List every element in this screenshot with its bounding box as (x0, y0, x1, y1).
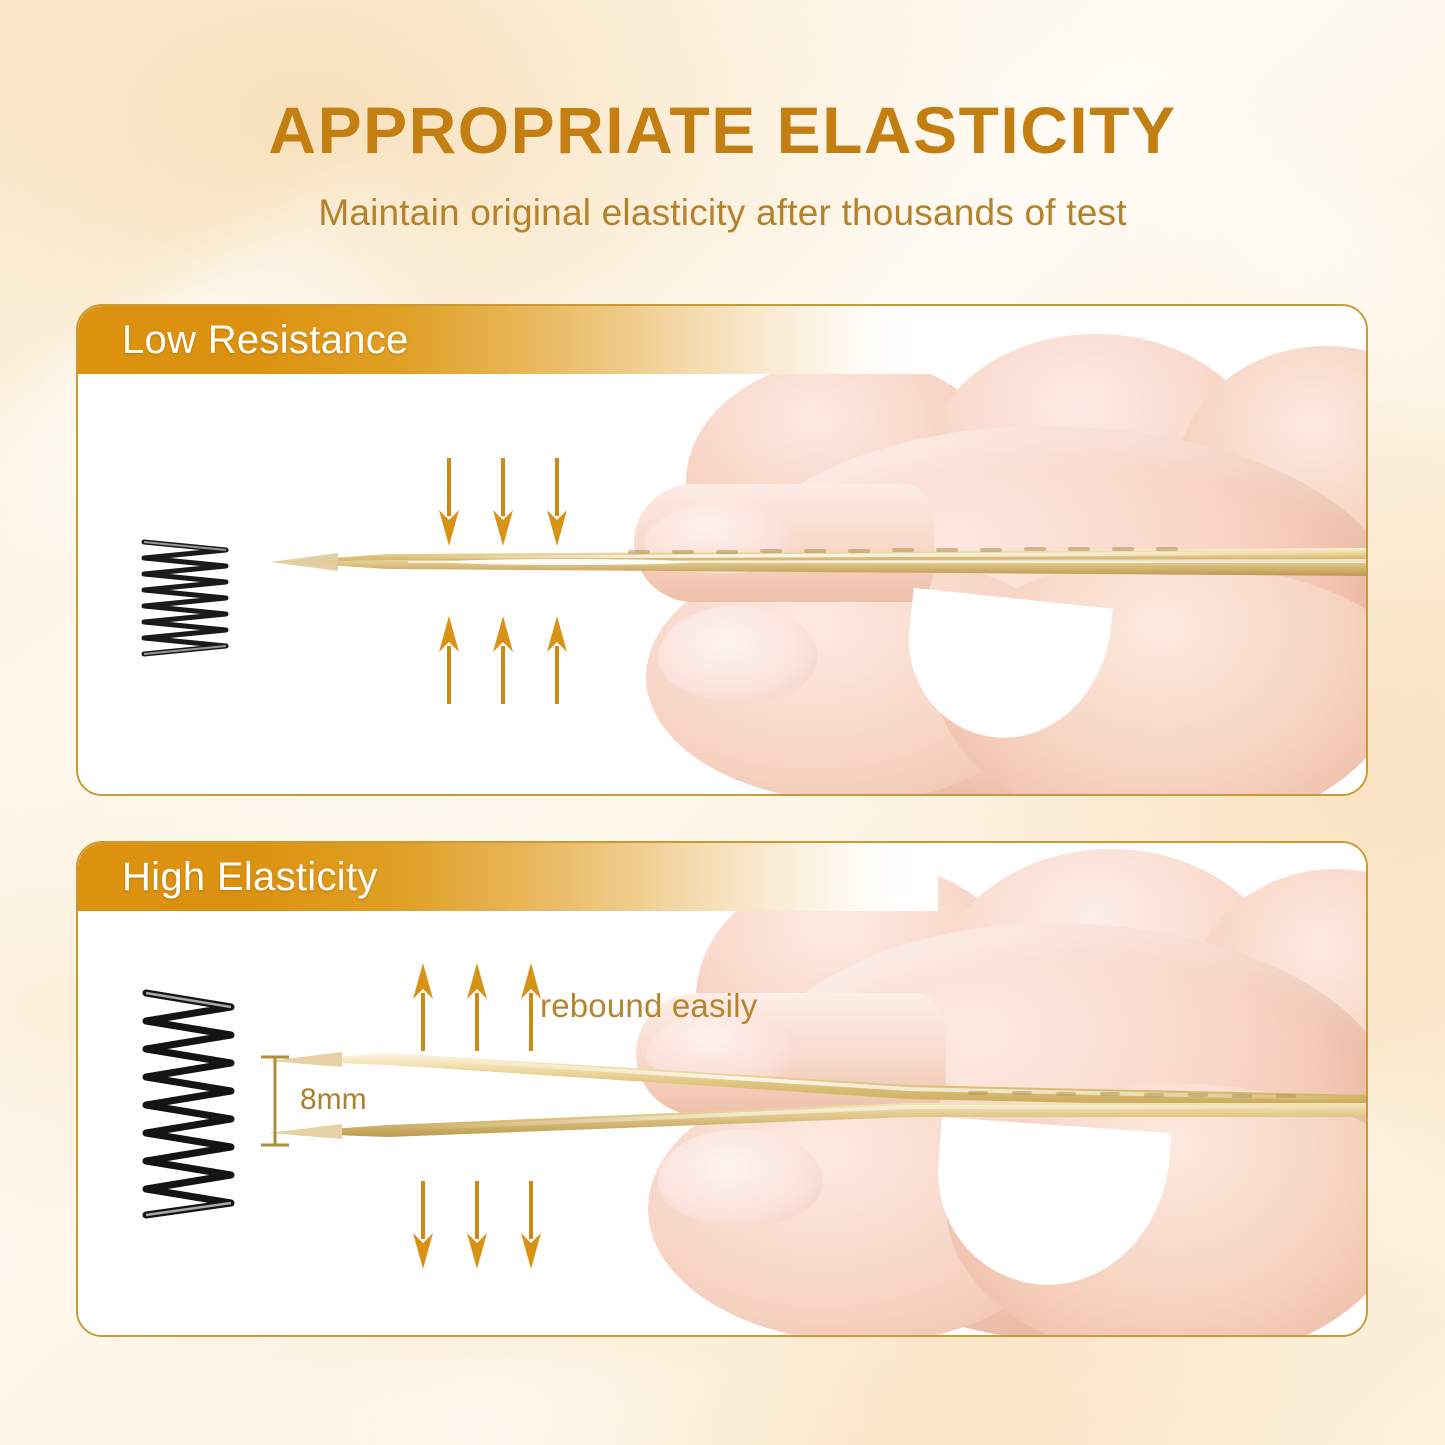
badge-low-resistance-label: Low Resistance (122, 318, 409, 363)
page-subtitle: Maintain original elasticity after thous… (0, 192, 1445, 234)
fingernail (658, 606, 818, 702)
panel-low-resistance-body: Low Resistance (78, 306, 1366, 794)
arrow-down-icon (544, 458, 570, 546)
tweezers-open (268, 1033, 1366, 1163)
dimension-marker-icon (258, 1051, 292, 1151)
arrow-up-icon (436, 616, 462, 704)
arrow-down-icon (518, 1181, 544, 1269)
arrow-down-icon (436, 458, 462, 546)
panel-low-resistance: Low Resistance (76, 304, 1368, 796)
badge-high-elasticity-label: High Elasticity (122, 855, 378, 900)
spring-coil-icon-compressed (126, 534, 246, 664)
panel-high-elasticity: 8mm rebound easily (76, 841, 1368, 1337)
arrow-up-icon (544, 616, 570, 704)
arrows-up-top (410, 963, 544, 1051)
panel-high-elasticity-body: 8mm rebound easily (78, 843, 1366, 1335)
arrow-down-icon (490, 458, 516, 546)
arrows-up-bottom (436, 616, 570, 704)
badge-low-resistance: Low Resistance (78, 306, 938, 374)
tweezers-closed (268, 532, 1366, 602)
arrows-down-bottom (410, 1181, 544, 1269)
rebound-easily-note: rebound easily (540, 987, 757, 1025)
arrows-down-top (436, 458, 570, 546)
arrow-down-icon (410, 1181, 436, 1269)
spring-coil-icon-extended (126, 983, 256, 1223)
gap-dimension-label: 8mm (300, 1083, 367, 1117)
arrow-down-icon (464, 1181, 490, 1269)
arrow-up-icon (490, 616, 516, 704)
page-title: APPROPRIATE ELASTICITY (0, 92, 1445, 168)
arrow-up-icon (410, 963, 436, 1051)
badge-high-elasticity: High Elasticity (78, 843, 938, 911)
arrow-up-icon (464, 963, 490, 1051)
infographic-canvas: APPROPRIATE ELASTICITY Maintain original… (0, 0, 1445, 1445)
